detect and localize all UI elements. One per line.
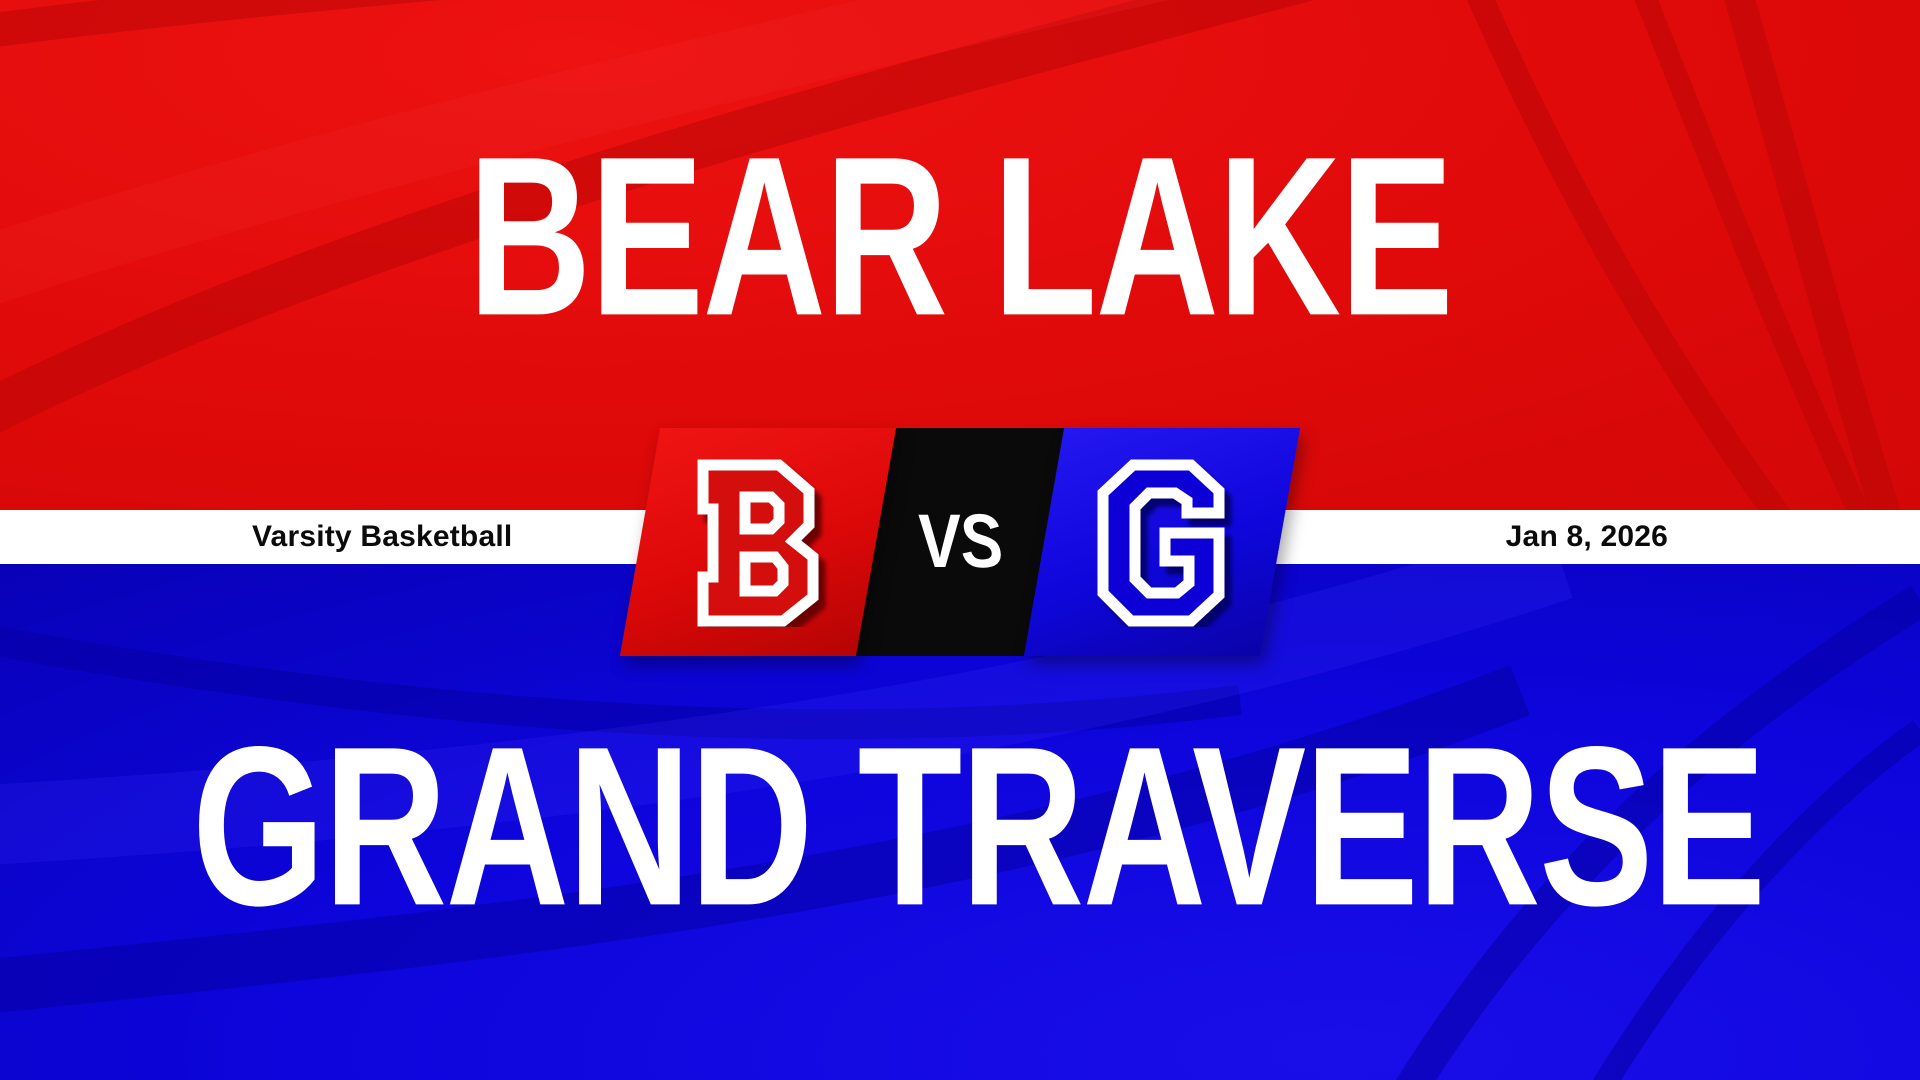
away-team-initial-g (1087, 457, 1237, 627)
home-team-logo-panel: B (620, 428, 896, 656)
sport-label: Varsity Basketball (252, 520, 512, 554)
vs-label: VS (912, 504, 1009, 580)
home-team-name: BEAR LAKE (192, 124, 1728, 351)
away-team-name: GRAND TRAVERSE (192, 714, 1728, 941)
matchup-graphic: BEAR LAKE GRAND TRAVERSE Varsity Basketb… (0, 0, 1920, 1080)
away-team-logo-panel: G (1024, 428, 1300, 656)
versus-badge: B VS (640, 428, 1280, 656)
game-date-label: Jan 8, 2026 (1506, 520, 1668, 554)
home-team-initial-b (683, 457, 833, 627)
